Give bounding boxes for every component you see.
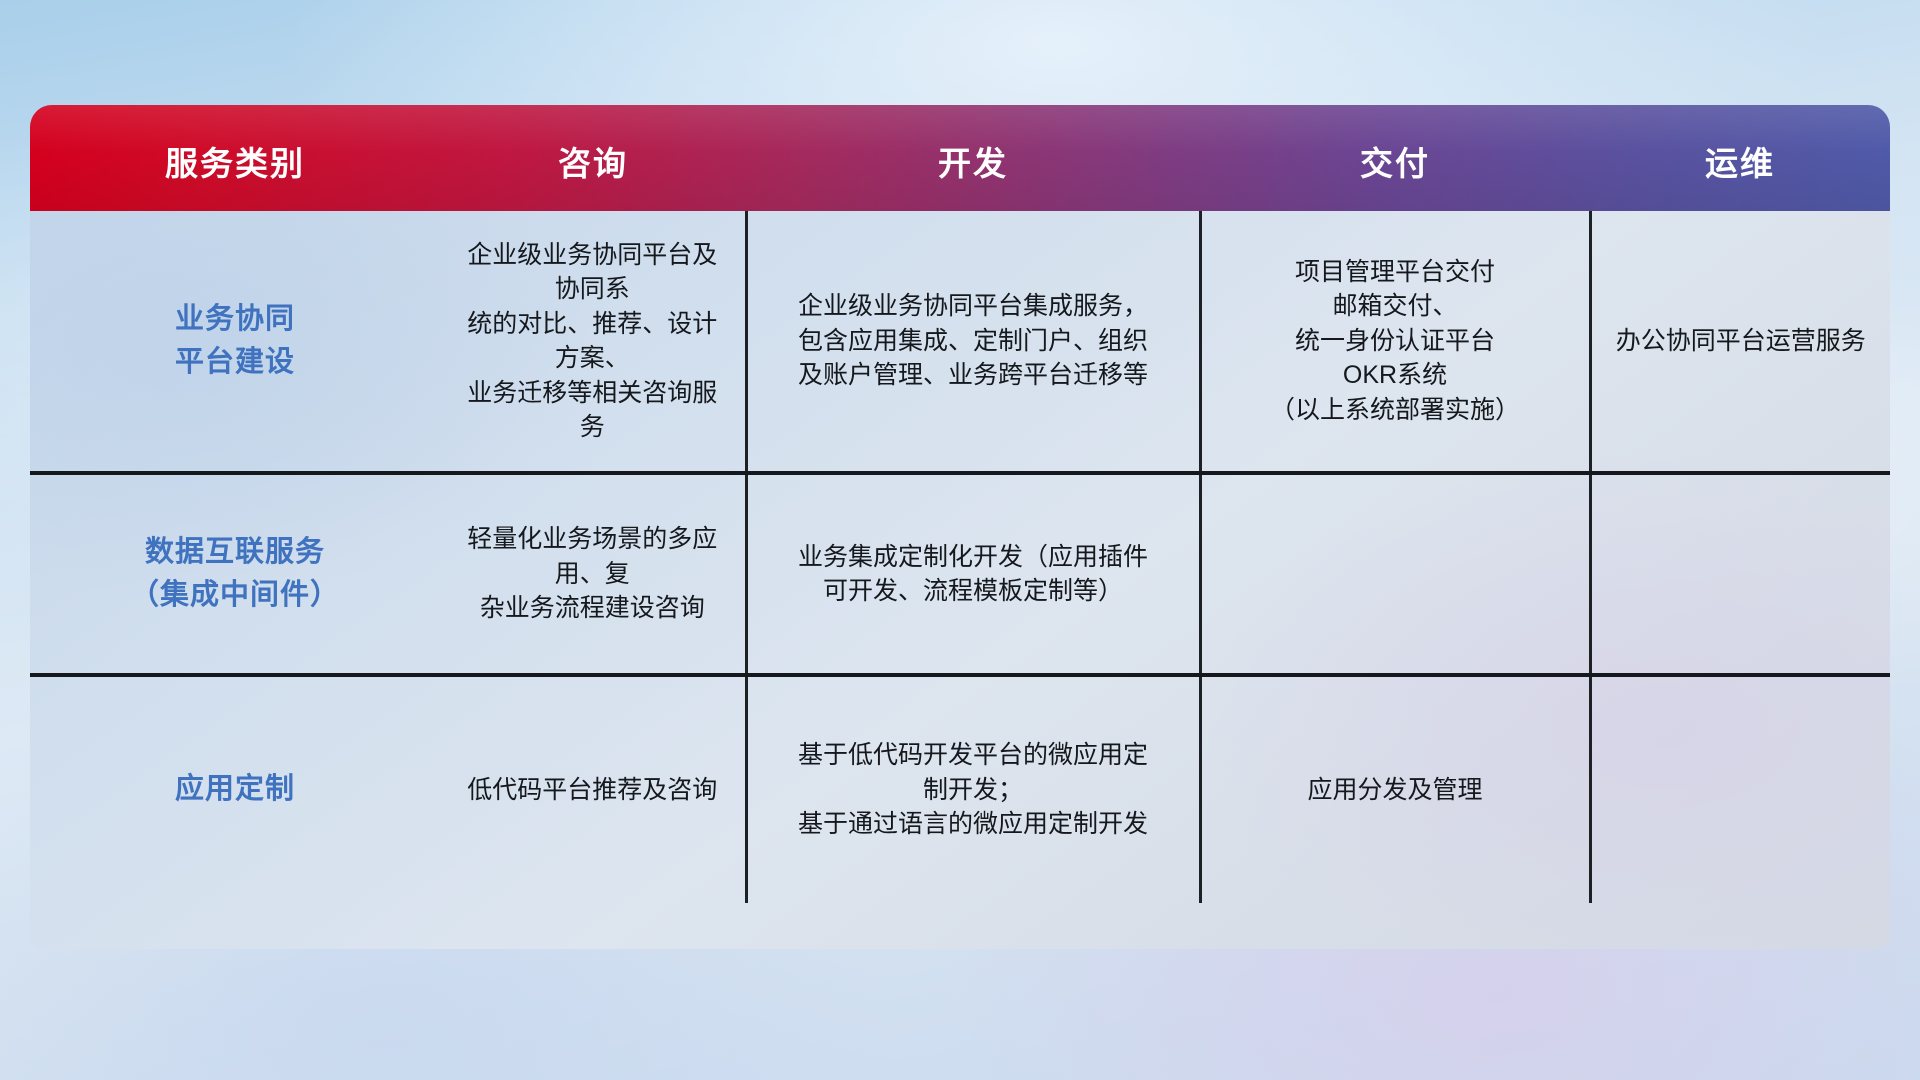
cell-text: 业务协同 平台建设 — [46, 298, 424, 385]
column-header-category: 服务类别 — [30, 105, 440, 211]
table-body: 业务协同 平台建设 企业级业务协同平台及协同系 统的对比、推荐、设计方案、 业务… — [30, 211, 1890, 949]
cell-text: 业务集成定制化开发（应用插件 可开发、流程模板定制等） — [764, 540, 1183, 609]
table-header-row: 服务类别 咨询 开发 交付 运维 — [30, 105, 1890, 211]
table-row: 应用定制 低代码平台推荐及咨询 基于低代码开发平台的微应用定 制开发； 基于通过… — [30, 675, 1890, 903]
column-header-delivery: 交付 — [1200, 105, 1590, 211]
cell-delivery — [1200, 473, 1590, 675]
cell-delivery: 项目管理平台交付 邮箱交付、 统一身份认证平台 OKR系统 （以上系统部署实施） — [1200, 211, 1590, 473]
table-row: 业务协同 平台建设 企业级业务协同平台及协同系 统的对比、推荐、设计方案、 业务… — [30, 211, 1890, 473]
cell-consulting: 轻量化业务场景的多应用、复 杂业务流程建设咨询 — [440, 473, 746, 675]
cell-text: 低代码平台推荐及咨询 — [456, 773, 729, 808]
cell-text: 数据互联服务 （集成中间件） — [46, 531, 424, 618]
table-row: 数据互联服务 （集成中间件） 轻量化业务场景的多应用、复 杂业务流程建设咨询 业… — [30, 473, 1890, 675]
cell-text: 项目管理平台交付 邮箱交付、 统一身份认证平台 OKR系统 （以上系统部署实施） — [1218, 255, 1573, 428]
cell-text: 企业级业务协同平台及协同系 统的对比、推荐、设计方案、 业务迁移等相关咨询服务 — [456, 238, 729, 445]
service-matrix-grid: 业务协同 平台建设 企业级业务协同平台及协同系 统的对比、推荐、设计方案、 业务… — [30, 211, 1890, 903]
cell-category: 数据互联服务 （集成中间件） — [30, 473, 440, 675]
cell-category: 业务协同 平台建设 — [30, 211, 440, 473]
cell-consulting: 低代码平台推荐及咨询 — [440, 675, 746, 903]
cell-text: 应用定制 — [46, 768, 424, 812]
column-header-operations: 运维 — [1590, 105, 1890, 211]
column-header-development: 开发 — [746, 105, 1200, 211]
cell-text: 办公协同平台运营服务 — [1608, 324, 1875, 359]
cell-operations — [1590, 473, 1890, 675]
cell-development: 企业级业务协同平台集成服务， 包含应用集成、定制门户、组织 及账户管理、业务跨平… — [746, 211, 1200, 473]
service-matrix-card: 服务类别 咨询 开发 交付 运维 业务协同 平台建设 — [30, 105, 1890, 949]
column-header-consulting: 咨询 — [440, 105, 746, 211]
cell-consulting: 企业级业务协同平台及协同系 统的对比、推荐、设计方案、 业务迁移等相关咨询服务 — [440, 211, 746, 473]
table-header-bar: 服务类别 咨询 开发 交付 运维 — [30, 105, 1890, 211]
cell-development: 业务集成定制化开发（应用插件 可开发、流程模板定制等） — [746, 473, 1200, 675]
cell-category: 应用定制 — [30, 675, 440, 903]
cell-development: 基于低代码开发平台的微应用定 制开发； 基于通过语言的微应用定制开发 — [746, 675, 1200, 903]
cell-operations: 办公协同平台运营服务 — [1590, 211, 1890, 473]
cell-text: 轻量化业务场景的多应用、复 杂业务流程建设咨询 — [456, 522, 729, 626]
cell-text: 应用分发及管理 — [1218, 773, 1573, 808]
cell-text: 基于低代码开发平台的微应用定 制开发； 基于通过语言的微应用定制开发 — [764, 738, 1183, 842]
cell-text: 企业级业务协同平台集成服务， 包含应用集成、定制门户、组织 及账户管理、业务跨平… — [764, 289, 1183, 393]
cell-delivery: 应用分发及管理 — [1200, 675, 1590, 903]
cell-operations — [1590, 675, 1890, 903]
